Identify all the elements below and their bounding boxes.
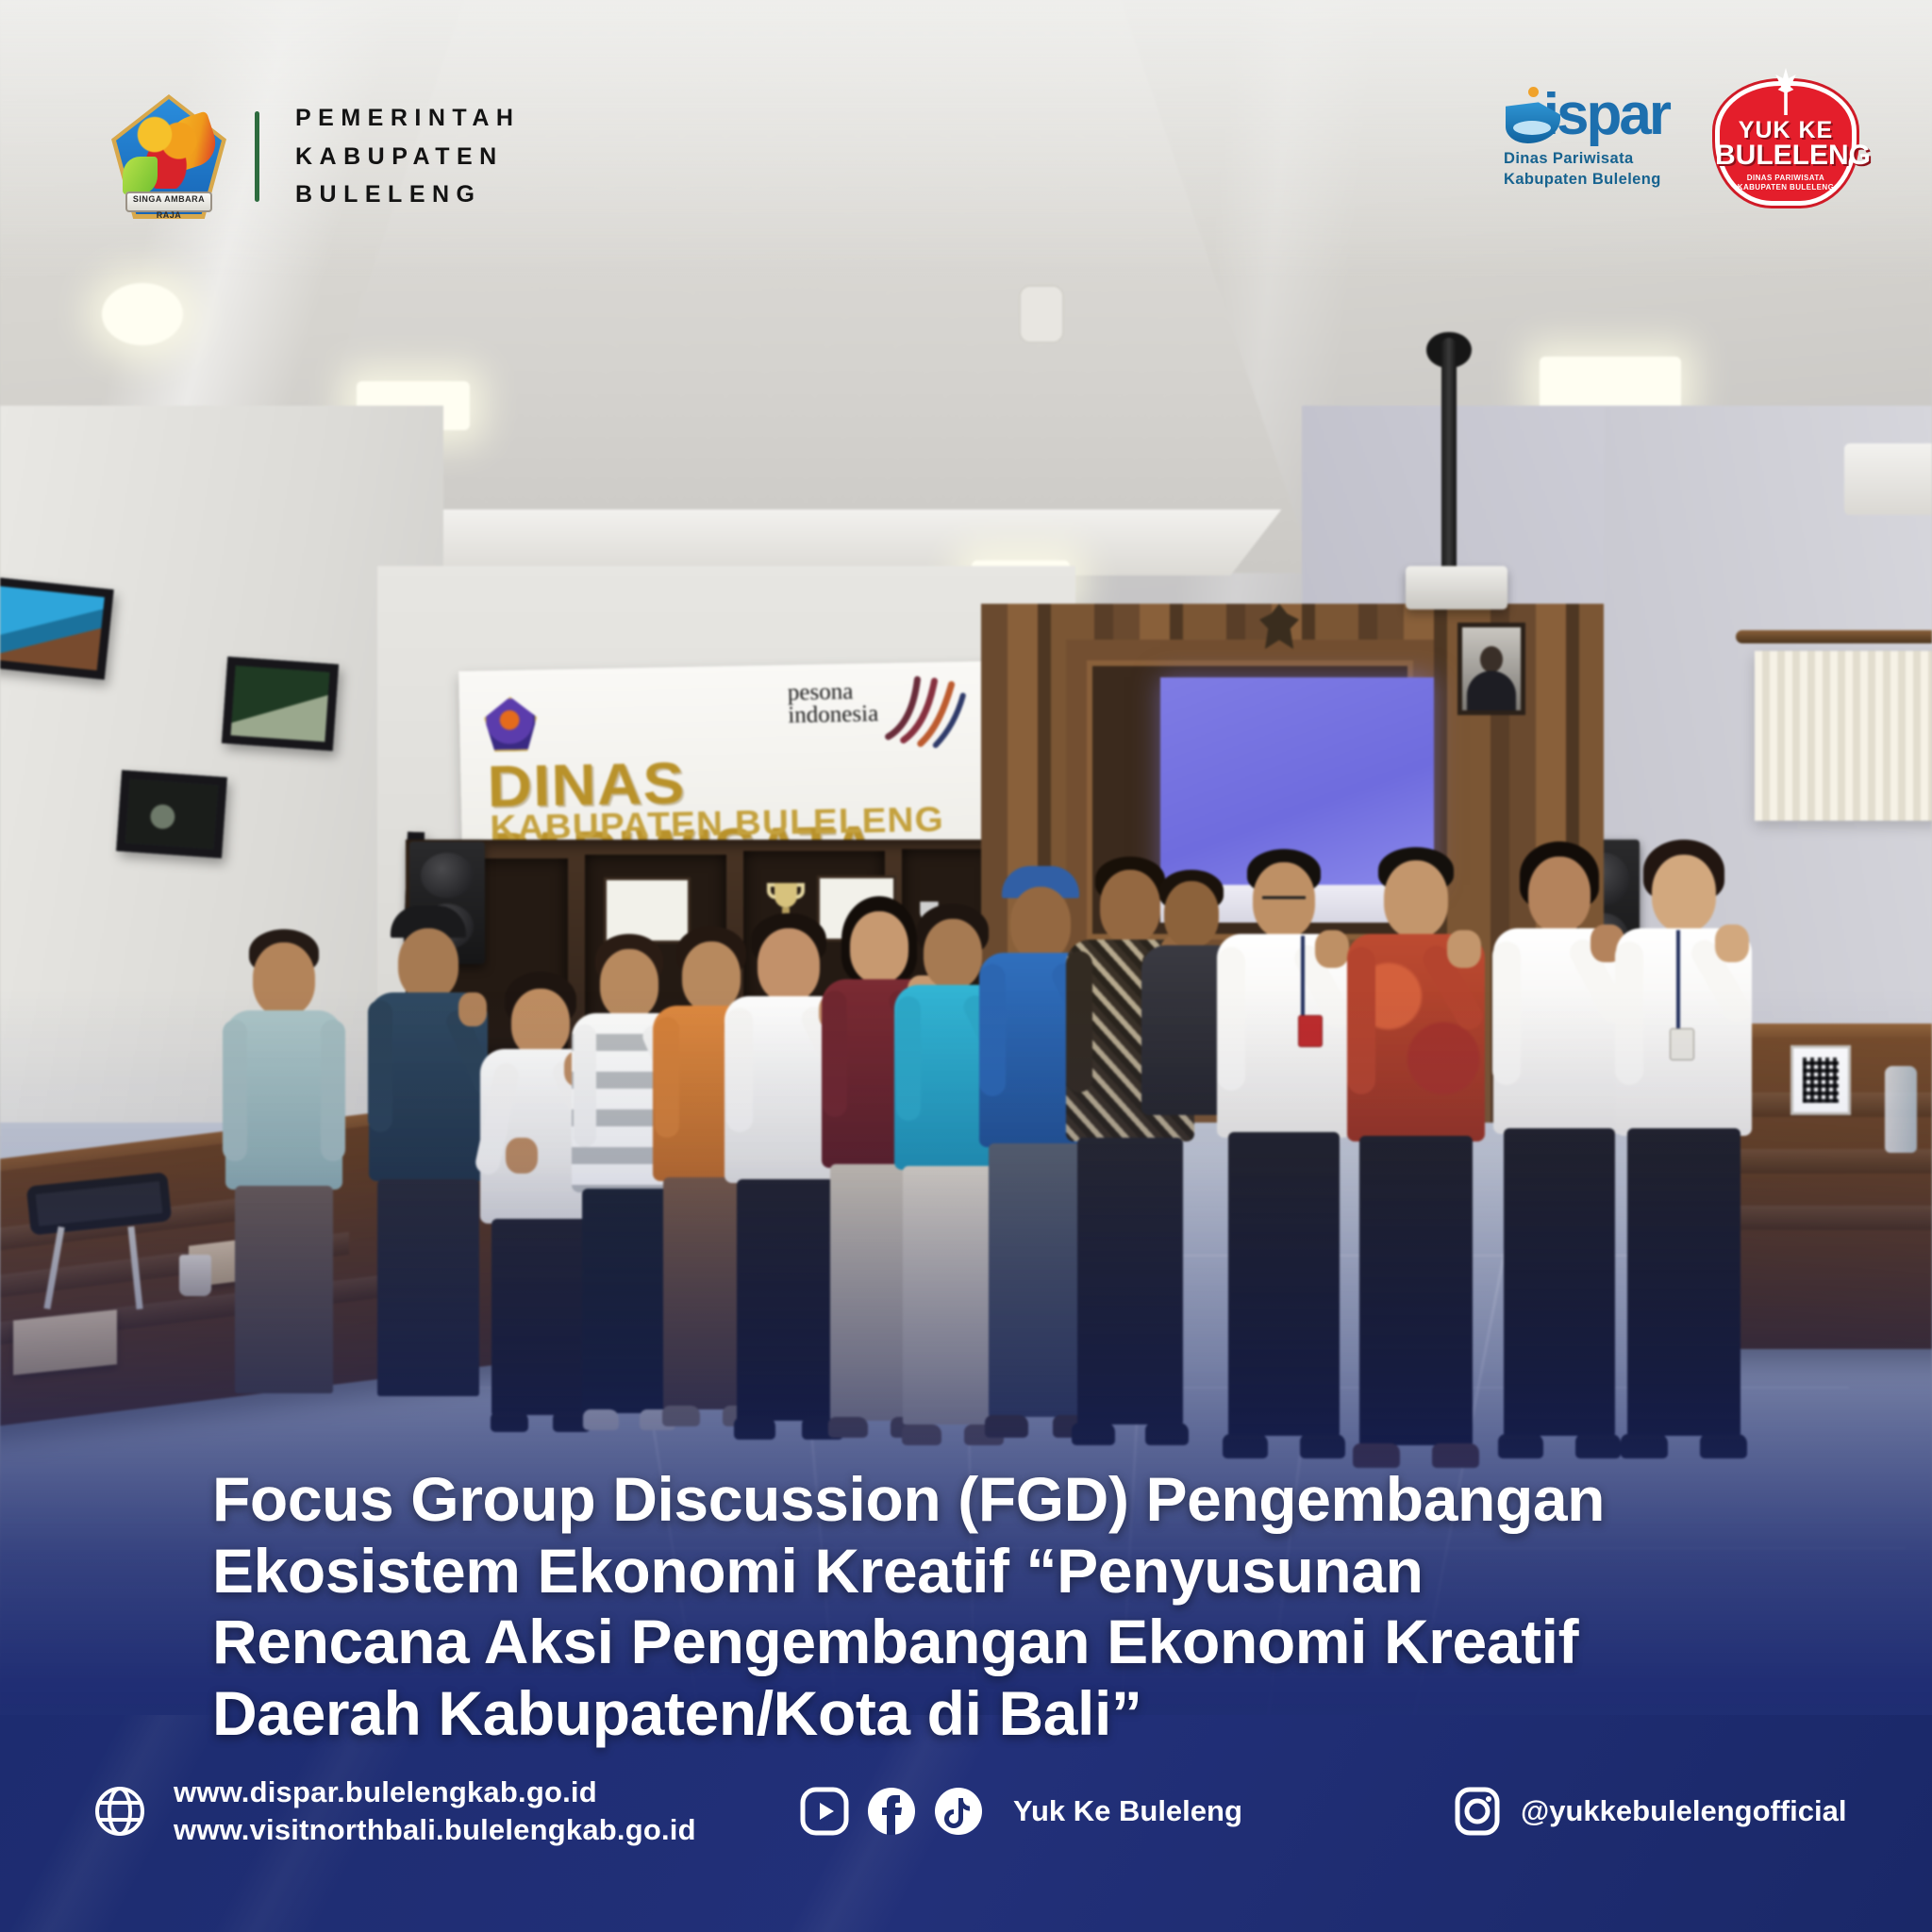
pesona-wing-icon: [875, 669, 968, 752]
poster-canvas: pesona indonesia DINAS PARIWISATA KABUPA…: [0, 0, 1932, 1932]
participant: [223, 929, 345, 1420]
yuk-ke-buleleng-logo: YUK KE BULELENG DINAS PARIWISATA KABUPAT…: [1715, 74, 1857, 206]
participant: [1345, 847, 1487, 1489]
footer-content: www.dispar.bulelengkab.go.id www.visitno…: [0, 1715, 1932, 1932]
facebook-icon[interactable]: [867, 1787, 916, 1836]
instagram-icon[interactable]: [1453, 1787, 1502, 1836]
gov-line-1: PEMERINTAH: [295, 99, 520, 138]
pesona-indonesia-logo: pesona indonesia: [788, 680, 879, 726]
office-banner: pesona indonesia DINAS PARIWISATA KABUPA…: [458, 660, 1013, 852]
poster-header: SINGA AMBARA RAJA PEMERINTAH KABUPATEN B…: [0, 0, 1932, 236]
water-bottle: [1885, 1066, 1917, 1153]
curtain-rod: [1736, 630, 1932, 643]
wall-frame-1: [0, 576, 114, 679]
paper-cup: [179, 1255, 211, 1296]
buleleng-crest-icon: SINGA AMBARA RAJA: [111, 94, 226, 219]
globe-icon: [94, 1786, 145, 1837]
youtube-icon[interactable]: [800, 1787, 849, 1836]
ceiling-light-round: [102, 283, 183, 345]
office-chair: [9, 1179, 189, 1302]
ceiling-vent: [1019, 285, 1064, 343]
dispar-sub-2: Kabupaten Buleleng: [1504, 169, 1672, 190]
title-line-2: Ekosistem Ekonomi Kreatif “Penyusunan: [212, 1536, 1759, 1607]
window-curtain: [1755, 651, 1932, 821]
yuk-line-3: DINAS PARIWISATA KABUPATEN BULELENG: [1715, 174, 1857, 192]
footer-social: Yuk Ke Buleleng: [800, 1787, 1242, 1836]
air-conditioner: [1844, 443, 1932, 515]
title-line-3: Rencana Aksi Pengembangan Ekonomi Kreati…: [212, 1607, 1759, 1678]
website-1[interactable]: www.dispar.bulelengkab.go.id: [174, 1774, 696, 1811]
official-portrait: [1457, 623, 1525, 715]
projector: [1406, 566, 1507, 609]
qr-code-stand: [1790, 1045, 1851, 1115]
title-line-1: Focus Group Discussion (FGD) Pengembanga…: [212, 1464, 1759, 1536]
eyeglasses: [1262, 896, 1306, 906]
dispar-wordmark-text: ispar: [1543, 82, 1669, 147]
pesona-line-2: indonesia: [788, 703, 878, 727]
footer-websites: www.dispar.bulelengkab.go.id www.visitno…: [94, 1774, 696, 1850]
tiktok-icon[interactable]: [934, 1787, 983, 1836]
participant: [1613, 840, 1755, 1489]
crest-ribbon-text: SINGA AMBARA RAJA: [125, 192, 213, 224]
cardboard-box-1: [13, 1309, 117, 1375]
participant: [1215, 849, 1353, 1483]
gov-line-3: BULELENG: [295, 175, 520, 214]
social-handle: Yuk Ke Buleleng: [1013, 1794, 1242, 1828]
banner-emblem-icon: [484, 696, 538, 752]
wall-frame-2: [222, 657, 339, 751]
projector-mount-arm: [1441, 338, 1457, 574]
footer-instagram: @yukkebulelengofficial: [1453, 1787, 1846, 1836]
gov-line-2: KABUPATEN: [295, 138, 520, 176]
partner-logos: D ispar Dinas Pariwisata Kabupaten Bulel…: [1504, 74, 1857, 206]
dispar-sub-1: Dinas Pariwisata: [1504, 148, 1672, 169]
government-name: PEMERINTAH KABUPATEN BULELENG: [295, 99, 520, 214]
dispar-logo: D ispar Dinas Pariwisata Kabupaten Bulel…: [1504, 89, 1672, 190]
participant: [366, 906, 491, 1415]
yuk-line-2: BULELENG: [1715, 140, 1857, 172]
website-2[interactable]: www.visitnorthbali.bulelengkab.go.id: [174, 1811, 696, 1849]
dispar-wordmark: D ispar: [1504, 89, 1672, 142]
wall-frame-3: [116, 770, 227, 858]
id-badge: [1298, 1015, 1323, 1047]
yuk-sub-1: DINAS PARIWISATA: [1747, 174, 1824, 182]
dispar-subtitle: Dinas Pariwisata Kabupaten Buleleng: [1504, 148, 1672, 191]
id-badge: [1670, 1028, 1694, 1060]
yuk-sub-2: KABUPATEN BULELENG: [1738, 183, 1834, 192]
government-branding: SINGA AMBARA RAJA PEMERINTAH KABUPATEN B…: [111, 94, 520, 219]
instagram-handle: @yukkebulelengofficial: [1521, 1794, 1846, 1828]
poster-title: Focus Group Discussion (FGD) Pengembanga…: [212, 1464, 1759, 1749]
brand-divider: [255, 111, 259, 202]
participant: [1491, 841, 1628, 1489]
